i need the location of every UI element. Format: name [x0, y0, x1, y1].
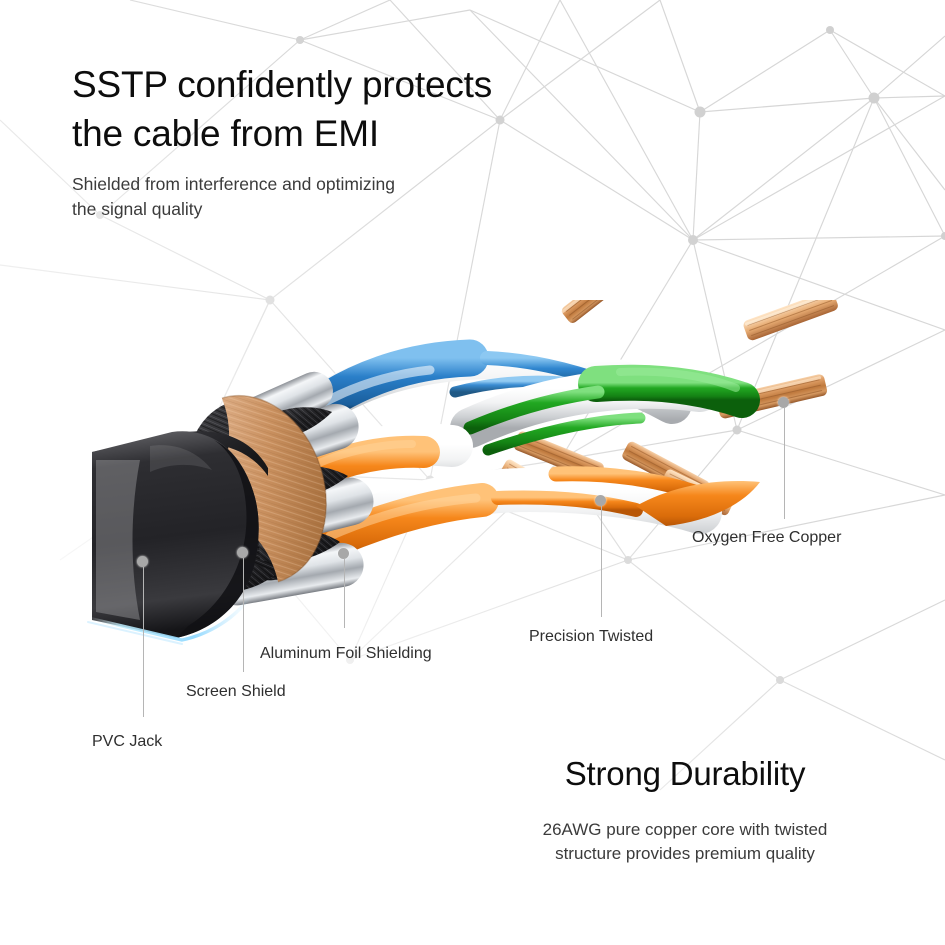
- infographic-page: SSTP confidently protects the cable from…: [0, 0, 945, 945]
- callout-line-precision-twisted: [601, 506, 602, 617]
- callout-label-oxygen-free-copper: Oxygen Free Copper: [692, 528, 841, 547]
- callout-dot-precision-twisted: [595, 495, 606, 506]
- callout-label-pvc-jack: PVC Jack: [92, 732, 162, 751]
- footer-subtitle: 26AWG pure copper core with twisted stru…: [455, 818, 915, 866]
- callout-label-precision-twisted: Precision Twisted: [529, 627, 653, 646]
- page-subtitle: Shielded from interference and optimizin…: [72, 172, 542, 222]
- callout-dot-oxygen-free-copper: [778, 397, 789, 408]
- callout-line-pvc-jack: [143, 567, 144, 717]
- cable-illustration: [0, 300, 945, 660]
- callout-dot-screen-shield: [237, 547, 248, 558]
- page-title: SSTP confidently protects the cable from…: [72, 60, 632, 158]
- callout-line-screen-shield: [243, 558, 244, 672]
- callout-label-screen-shield: Screen Shield: [186, 682, 286, 701]
- callout-line-oxygen-free-copper: [784, 408, 785, 519]
- callout-line-aluminum-foil: [344, 559, 345, 628]
- callout-label-aluminum-foil: Aluminum Foil Shielding: [260, 644, 432, 663]
- callout-dot-pvc-jack: [137, 556, 148, 567]
- footer-title: Strong Durability: [455, 753, 915, 795]
- callout-dot-aluminum-foil: [338, 548, 349, 559]
